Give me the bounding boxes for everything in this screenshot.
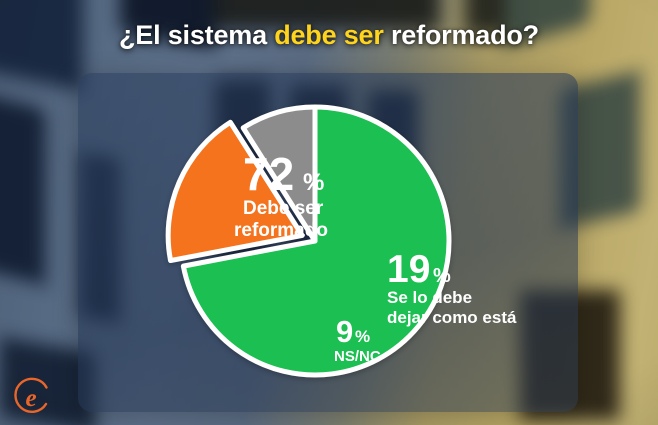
- e-logo-letter: e: [25, 385, 36, 412]
- e-logo-icon: e: [8, 374, 54, 420]
- title-part-1: ¿El sistema: [119, 20, 274, 50]
- title-highlight: debe ser: [274, 20, 383, 50]
- e-logo[interactable]: e: [8, 374, 54, 420]
- chart-panel: [78, 73, 578, 412]
- title-part-2: reformado?: [384, 20, 539, 50]
- page-title: ¿El sistema debe ser reformado?: [0, 20, 658, 51]
